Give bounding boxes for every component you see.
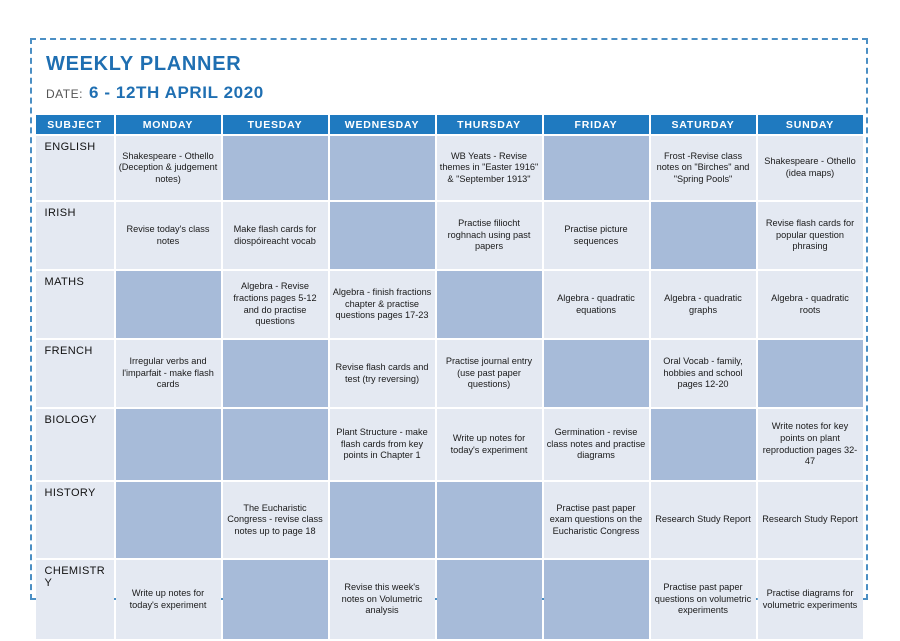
column-header-sunday: SUNDAY — [758, 115, 863, 134]
cell-irish-tuesday[interactable]: Make flash cards for diospóireacht vocab — [223, 202, 328, 269]
cell-english-thursday[interactable]: WB Yeats - Revise themes in "Easter 1916… — [437, 136, 542, 200]
table-row: HISTORY The Eucharistic Congress - revis… — [36, 482, 863, 558]
cell-french-friday[interactable] — [544, 340, 649, 407]
subject-label-history: HISTORY — [36, 482, 114, 558]
cell-maths-tuesday[interactable]: Algebra - Revise fractions pages 5-12 an… — [223, 271, 328, 338]
column-header-tuesday: TUESDAY — [223, 115, 328, 134]
page-title: WEEKLY PLANNER — [46, 52, 866, 76]
cell-maths-thursday[interactable] — [437, 271, 542, 338]
cell-maths-wednesday[interactable]: Algebra - finish fractions chapter & pra… — [330, 271, 435, 338]
subject-label-irish: IRISH — [36, 202, 114, 269]
cell-biology-sunday[interactable]: Write notes for key points on plant repr… — [758, 409, 863, 480]
table-body: ENGLISH Shakespeare - Othello (Deception… — [36, 136, 863, 639]
cell-biology-tuesday[interactable] — [223, 409, 328, 480]
planner-header: WEEKLY PLANNER DATE: 6 - 12TH APRIL 2020 — [32, 40, 866, 113]
table-header-row: SUBJECT MONDAY TUESDAY WEDNESDAY THURSDA… — [36, 115, 863, 134]
cell-irish-sunday[interactable]: Revise flash cards for popular question … — [758, 202, 863, 269]
cell-english-saturday[interactable]: Frost -Revise class notes on "Birches" a… — [651, 136, 756, 200]
cell-biology-wednesday[interactable]: Plant Structure - make flash cards from … — [330, 409, 435, 480]
subject-label-biology: BIOLOGY — [36, 409, 114, 480]
column-header-monday: MONDAY — [116, 115, 221, 134]
cell-biology-saturday[interactable] — [651, 409, 756, 480]
cell-english-wednesday[interactable] — [330, 136, 435, 200]
cell-chemistry-saturday[interactable]: Practise past paper questions on volumet… — [651, 560, 756, 639]
subject-label-english: ENGLISH — [36, 136, 114, 200]
subject-label-maths: MATHS — [36, 271, 114, 338]
cell-chemistry-sunday[interactable]: Practise diagrams for volumetric experim… — [758, 560, 863, 639]
cell-irish-friday[interactable]: Practise picture sequences — [544, 202, 649, 269]
cell-french-sunday[interactable] — [758, 340, 863, 407]
table-row: ENGLISH Shakespeare - Othello (Deception… — [36, 136, 863, 200]
cell-french-wednesday[interactable]: Revise flash cards and test (try reversi… — [330, 340, 435, 407]
cell-english-tuesday[interactable] — [223, 136, 328, 200]
cell-chemistry-wednesday[interactable]: Revise this week's notes on Volumetric a… — [330, 560, 435, 639]
cell-english-sunday[interactable]: Shakespeare - Othello (idea maps) — [758, 136, 863, 200]
cell-biology-monday[interactable] — [116, 409, 221, 480]
planner-frame: WEEKLY PLANNER DATE: 6 - 12TH APRIL 2020… — [30, 38, 868, 600]
column-header-wednesday: WEDNESDAY — [330, 115, 435, 134]
table-row: CHEMISTRY Write up notes for today's exp… — [36, 560, 863, 639]
cell-french-thursday[interactable]: Practise journal entry (use past paper q… — [437, 340, 542, 407]
column-header-saturday: SATURDAY — [651, 115, 756, 134]
date-label: DATE: — [46, 87, 83, 101]
cell-chemistry-friday[interactable] — [544, 560, 649, 639]
cell-maths-saturday[interactable]: Algebra - quadratic graphs — [651, 271, 756, 338]
cell-maths-sunday[interactable]: Algebra - quadratic roots — [758, 271, 863, 338]
cell-history-sunday[interactable]: Research Study Report — [758, 482, 863, 558]
cell-biology-friday[interactable]: Germination - revise class notes and pra… — [544, 409, 649, 480]
cell-history-friday[interactable]: Practise past paper exam questions on th… — [544, 482, 649, 558]
cell-french-monday[interactable]: Irregular verbs and l'imparfait - make f… — [116, 340, 221, 407]
column-header-thursday: THURSDAY — [437, 115, 542, 134]
cell-english-monday[interactable]: Shakespeare - Othello (Deception & judge… — [116, 136, 221, 200]
subject-label-chemistry: CHEMISTRY — [36, 560, 114, 639]
cell-irish-monday[interactable]: Revise today's class notes — [116, 202, 221, 269]
cell-irish-wednesday[interactable] — [330, 202, 435, 269]
cell-irish-saturday[interactable] — [651, 202, 756, 269]
cell-biology-thursday[interactable]: Write up notes for today's experiment — [437, 409, 542, 480]
table-row: FRENCH Irregular verbs and l'imparfait -… — [36, 340, 863, 407]
cell-chemistry-tuesday[interactable] — [223, 560, 328, 639]
cell-history-saturday[interactable]: Research Study Report — [651, 482, 756, 558]
cell-french-saturday[interactable]: Oral Vocab - family, hobbies and school … — [651, 340, 756, 407]
cell-french-tuesday[interactable] — [223, 340, 328, 407]
date-value: 6 - 12TH APRIL 2020 — [89, 83, 264, 103]
table-row: BIOLOGY Plant Structure - make flash car… — [36, 409, 863, 480]
cell-history-wednesday[interactable] — [330, 482, 435, 558]
cell-history-tuesday[interactable]: The Eucharistic Congress - revise class … — [223, 482, 328, 558]
cell-chemistry-thursday[interactable] — [437, 560, 542, 639]
subject-label-french: FRENCH — [36, 340, 114, 407]
cell-chemistry-monday[interactable]: Write up notes for today's experiment — [116, 560, 221, 639]
weekly-planner-table: SUBJECT MONDAY TUESDAY WEDNESDAY THURSDA… — [34, 113, 865, 641]
cell-english-friday[interactable] — [544, 136, 649, 200]
cell-maths-friday[interactable]: Algebra - quadratic equations — [544, 271, 649, 338]
cell-history-monday[interactable] — [116, 482, 221, 558]
cell-maths-monday[interactable] — [116, 271, 221, 338]
table-row: MATHS Algebra - Revise fractions pages 5… — [36, 271, 863, 338]
date-line: DATE: 6 - 12TH APRIL 2020 — [46, 83, 866, 103]
column-header-subject: SUBJECT — [36, 115, 114, 134]
table-row: IRISH Revise today's class notes Make fl… — [36, 202, 863, 269]
column-header-friday: FRIDAY — [544, 115, 649, 134]
cell-irish-thursday[interactable]: Practise filiocht roghnach using past pa… — [437, 202, 542, 269]
cell-history-thursday[interactable] — [437, 482, 542, 558]
